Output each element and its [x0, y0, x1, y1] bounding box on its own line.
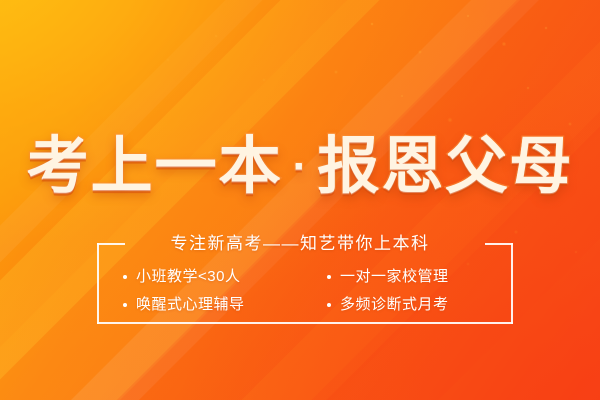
list-item: 小班教学<30人 — [115, 266, 305, 288]
list-item: 一对一家校管理 — [305, 266, 495, 288]
headline-right: 报恩父母 — [317, 132, 573, 201]
bullet-dot-icon — [123, 303, 127, 307]
list-item: 多频诊断式月考 — [305, 294, 495, 316]
bullet-dot-icon — [327, 303, 331, 307]
bullet-dot-icon — [123, 275, 127, 279]
feature-label: 一对一家校管理 — [340, 266, 449, 288]
page-title: 考上一本·报恩父母 — [0, 136, 600, 198]
headline-separator-dot: · — [293, 145, 308, 189]
subtitle: 专注新高考——知艺带你上本科 — [0, 234, 600, 254]
frame-bottom-edge — [97, 322, 513, 324]
feature-list: 小班教学<30人 一对一家校管理 唤醒式心理辅导 多频诊断式月考 — [97, 266, 513, 316]
feature-label: 小班教学<30人 — [136, 266, 240, 288]
bullet-dot-icon — [327, 275, 331, 279]
feature-label: 唤醒式心理辅导 — [136, 294, 245, 316]
promo-banner: 考上一本·报恩父母 专注新高考——知艺带你上本科 小班教学<30人 一对一家校管… — [0, 0, 600, 400]
feature-label: 多频诊断式月考 — [340, 294, 449, 316]
list-item: 唤醒式心理辅导 — [115, 294, 305, 316]
headline-left: 考上一本 — [27, 132, 283, 201]
